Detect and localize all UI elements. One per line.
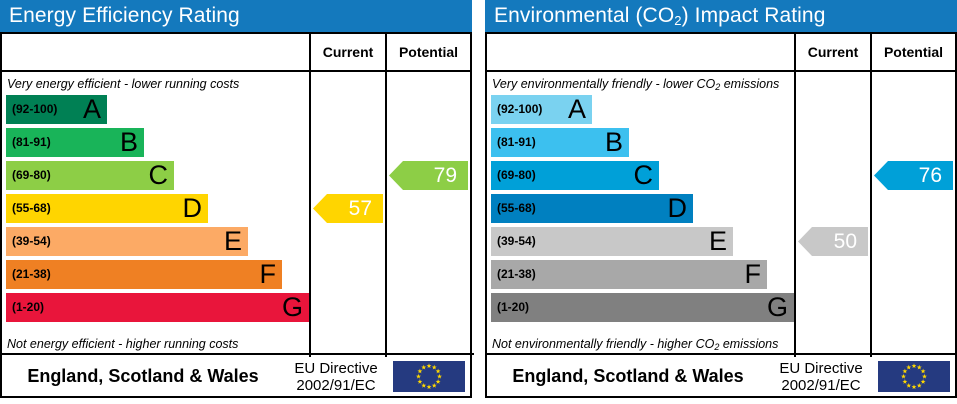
chart-title: Energy Efficiency Rating: [0, 0, 472, 32]
current-rating-value: 50: [834, 230, 857, 253]
chart-title: Environmental (CO2) Impact Rating: [485, 0, 957, 32]
band-range-label: (81-91): [497, 128, 536, 157]
footer-eu-directive: EU Directive2002/91/EC: [284, 360, 388, 394]
rating-band-a: (92-100)A: [491, 95, 592, 124]
potential-rating-value: 79: [434, 164, 457, 187]
column-header-row: CurrentPotential: [2, 34, 470, 72]
band-range-label: (69-80): [497, 161, 536, 190]
band-range-label: (39-54): [12, 227, 51, 256]
column-header-potential: Potential: [387, 34, 470, 70]
rating-band-f: (21-38)F: [491, 260, 767, 289]
rating-band-c: (69-80)C: [491, 161, 659, 190]
rating-bands: (92-100)A(81-91)B(69-80)C(55-68)D(39-54)…: [6, 95, 309, 326]
rating-band-b: (81-91)B: [491, 128, 629, 157]
eu-directive-line-2: 2002/91/EC: [284, 377, 388, 394]
column-header-current: Current: [796, 34, 870, 70]
band-letter-label: A: [83, 95, 101, 122]
rating-band-a: (92-100)A: [6, 95, 107, 124]
chart-title-suffix: ) Impact Rating: [682, 4, 826, 27]
band-range-label: (21-38): [497, 260, 536, 289]
band-range-label: (55-68): [12, 194, 51, 223]
band-letter-label: C: [634, 161, 654, 188]
rating-band-c: (69-80)C: [6, 161, 174, 190]
column-divider-potential: [385, 34, 387, 357]
eu-directive-line-2: 2002/91/EC: [769, 377, 873, 394]
band-range-label: (1-20): [12, 293, 44, 322]
band-range-label: (92-100): [12, 95, 57, 124]
band-letter-label: D: [183, 194, 203, 221]
chart-body: CurrentPotentialVery environmentally fri…: [485, 32, 957, 398]
rating-band-g: (1-20)G: [491, 293, 794, 322]
rating-bands: (92-100)A(81-91)B(69-80)C(55-68)D(39-54)…: [491, 95, 794, 326]
footer-region-label: England, Scotland & Wales: [2, 357, 284, 396]
eu-directive-line-1: EU Directive: [284, 360, 388, 377]
chart-title-text: Environmental (CO: [494, 4, 674, 27]
band-range-label: (92-100): [497, 95, 542, 124]
potential-rating-arrow: 79: [389, 161, 468, 190]
band-letter-label: G: [767, 293, 788, 320]
column-divider-potential: [870, 34, 872, 357]
rating-band-e: (39-54)E: [6, 227, 248, 256]
rating-band-d: (55-68)D: [6, 194, 208, 223]
band-letter-label: F: [745, 260, 762, 287]
rating-band-d: (55-68)D: [491, 194, 693, 223]
column-header-row: CurrentPotential: [487, 34, 955, 72]
band-letter-label: C: [149, 161, 169, 188]
band-letter-label: D: [668, 194, 688, 221]
caption-bottom: Not energy efficient - higher running co…: [2, 334, 474, 355]
footer-region-label: England, Scotland & Wales: [487, 357, 769, 396]
eu-flag-icon: [393, 361, 465, 392]
rating-band-e: (39-54)E: [491, 227, 733, 256]
rating-band-b: (81-91)B: [6, 128, 144, 157]
band-letter-label: E: [709, 227, 727, 254]
column-header-current: Current: [311, 34, 385, 70]
caption-bottom: Not environmentally friendly - higher CO…: [487, 334, 957, 355]
band-range-label: (69-80): [12, 161, 51, 190]
caption-top: Very energy efficient - lower running co…: [2, 74, 307, 94]
band-range-label: (1-20): [497, 293, 529, 322]
potential-rating-arrow: 76: [874, 161, 953, 190]
band-letter-label: B: [605, 128, 623, 155]
band-range-label: (55-68): [497, 194, 536, 223]
chart-footer: England, Scotland & WalesEU Directive200…: [487, 357, 955, 396]
band-letter-label: B: [120, 128, 138, 155]
band-letter-label: A: [568, 95, 586, 122]
caption-top: Very environmentally friendly - lower CO…: [487, 74, 792, 94]
current-rating-arrow: 50: [798, 227, 868, 256]
eu-flag-icon: [878, 361, 950, 392]
epc-chart-page: Energy Efficiency RatingCurrentPotential…: [0, 0, 957, 404]
band-letter-label: G: [282, 293, 303, 320]
potential-rating-value: 76: [919, 164, 942, 187]
eu-directive-line-1: EU Directive: [769, 360, 873, 377]
footer-eu-directive: EU Directive2002/91/EC: [769, 360, 873, 394]
band-letter-label: E: [224, 227, 242, 254]
rating-band-f: (21-38)F: [6, 260, 282, 289]
band-range-label: (21-38): [12, 260, 51, 289]
chart-footer: England, Scotland & WalesEU Directive200…: [2, 357, 470, 396]
column-divider-current: [794, 34, 796, 357]
chart-body: CurrentPotentialVery energy efficient - …: [0, 32, 472, 398]
band-range-label: (81-91): [12, 128, 51, 157]
co2-impact-rating-chart: Environmental (CO2) Impact RatingCurrent…: [485, 0, 957, 404]
chart-title-subscript: 2: [674, 13, 681, 28]
column-divider-current: [309, 34, 311, 357]
band-letter-label: F: [260, 260, 277, 287]
current-rating-arrow: 57: [313, 194, 383, 223]
energy-efficiency-rating-chart: Energy Efficiency RatingCurrentPotential…: [0, 0, 472, 404]
rating-band-g: (1-20)G: [6, 293, 309, 322]
current-rating-value: 57: [349, 197, 372, 220]
column-header-potential: Potential: [872, 34, 955, 70]
band-range-label: (39-54): [497, 227, 536, 256]
